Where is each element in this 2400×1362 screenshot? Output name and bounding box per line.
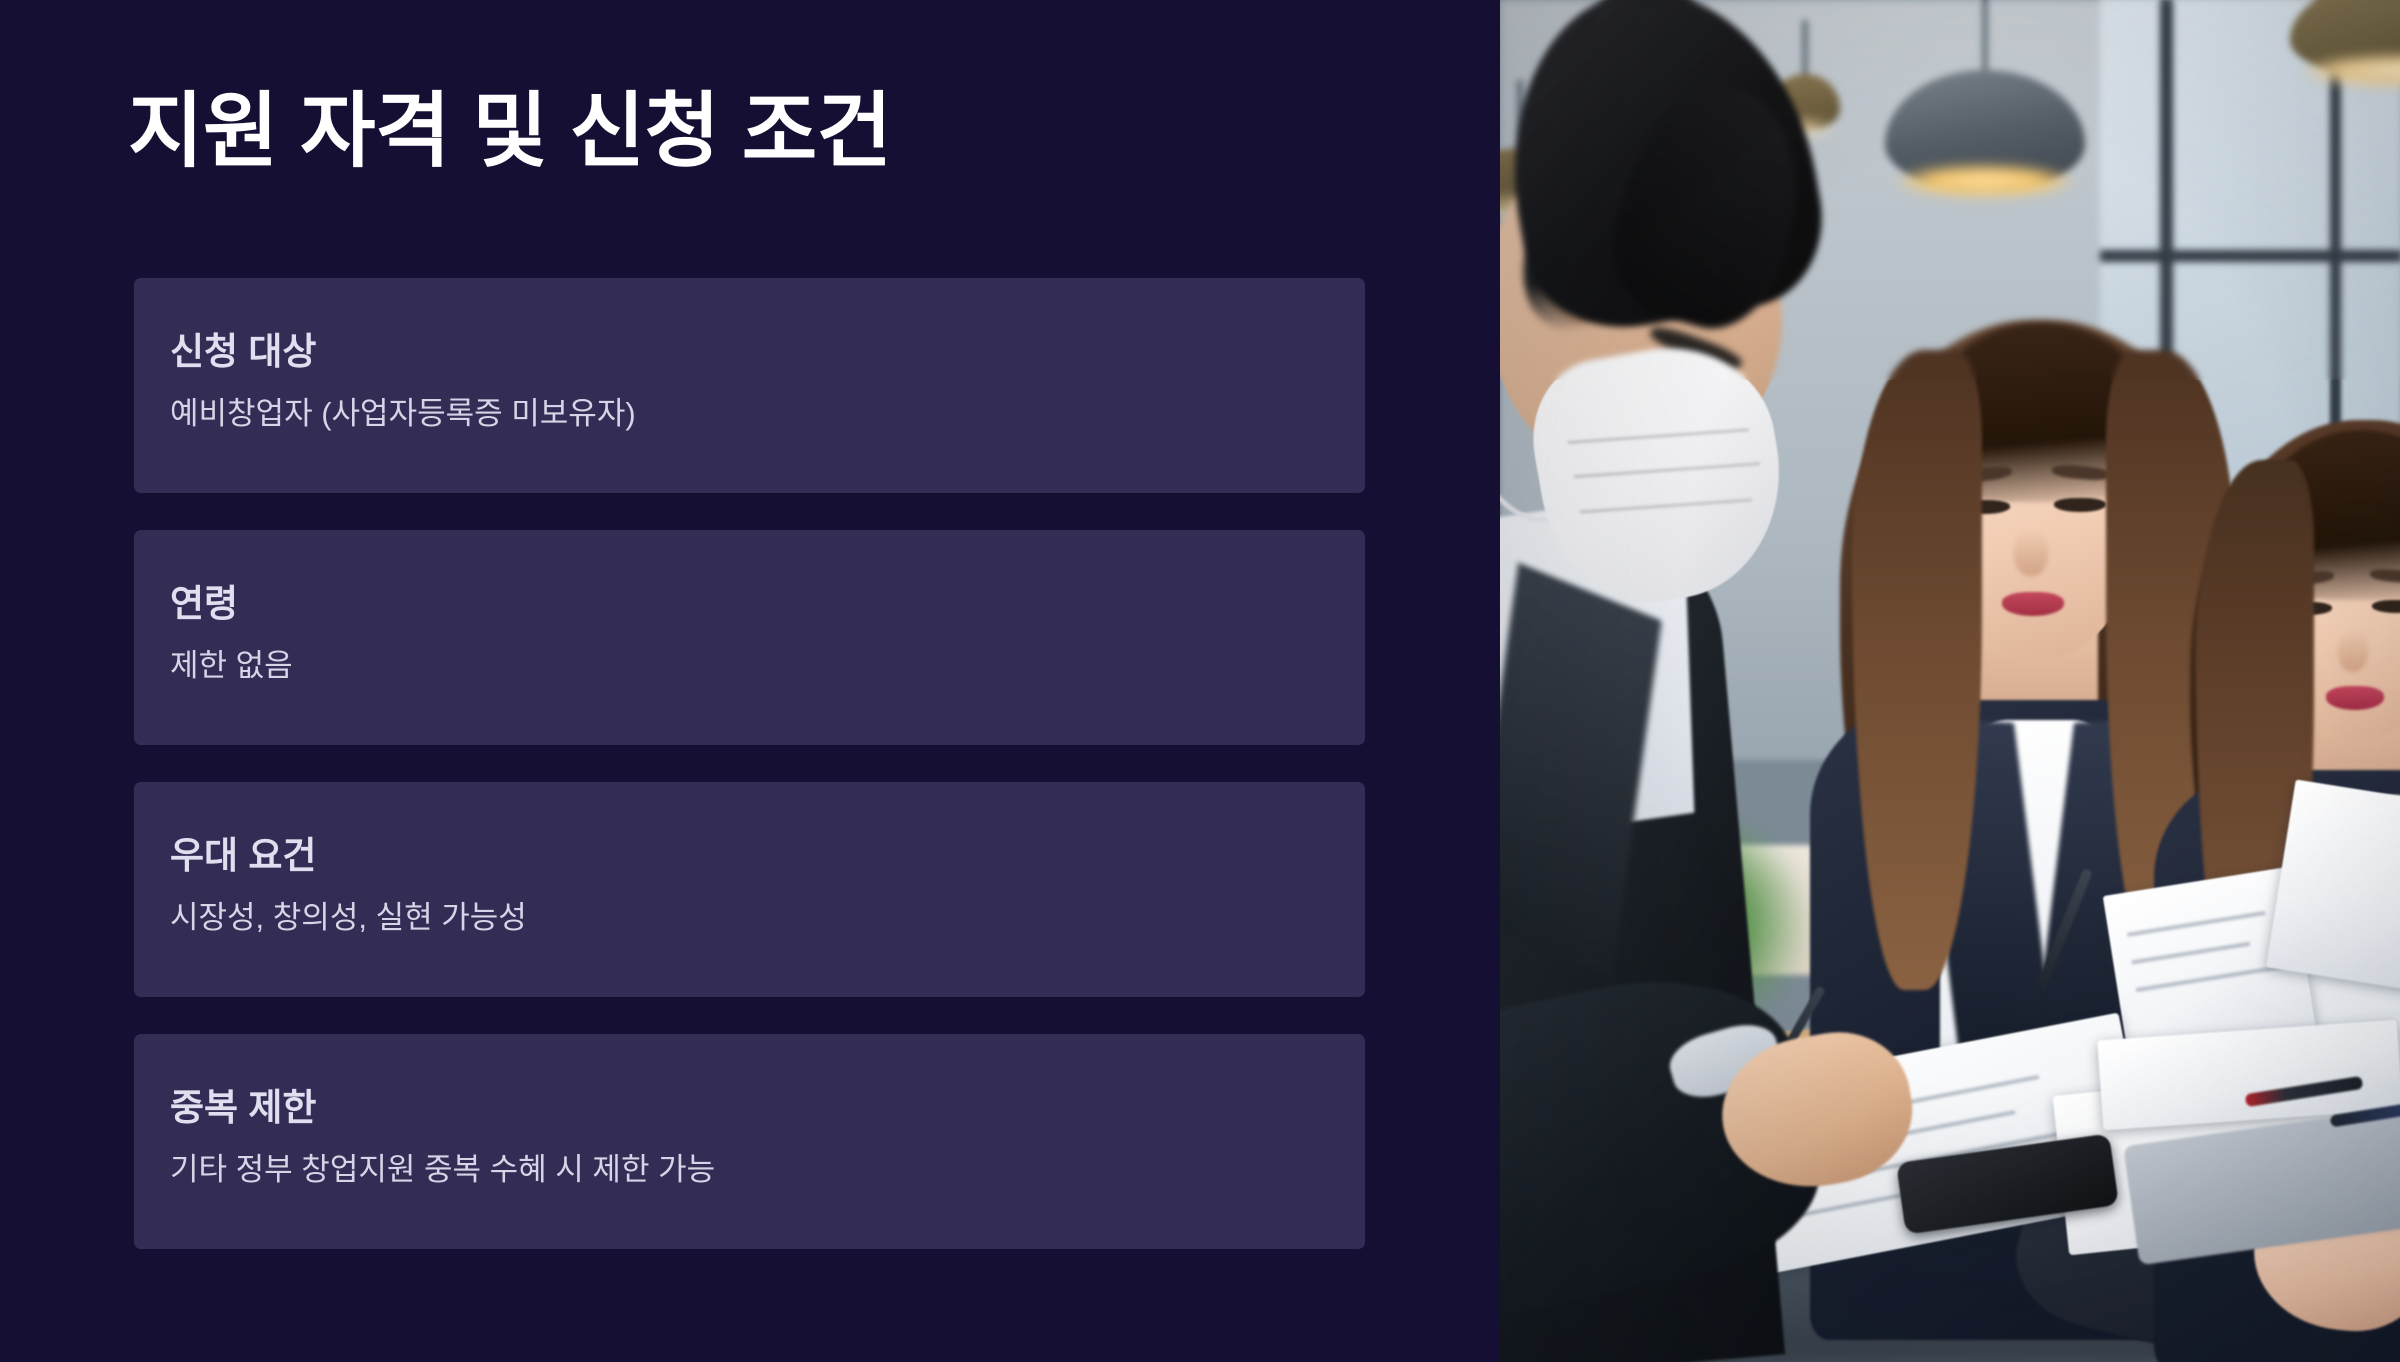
card-body: 기타 정부 창업지원 중복 수혜 시 제한 가능 [170,1151,1365,1190]
info-card-list: 신청 대상 예비창업자 (사업자등록증 미보유자) 연령 제한 없음 우대 요건… [134,278,1365,1249]
slide-root: 지원 자격 및 신청 조건 신청 대상 예비창업자 (사업자등록증 미보유자) … [0,0,2400,1362]
person-left-man [1500,0,1890,1362]
info-card-applicant: 신청 대상 예비창업자 (사업자등록증 미보유자) [134,278,1365,493]
info-card-duplication: 중복 제한 기타 정부 창업지원 중복 수혜 시 제한 가능 [134,1034,1365,1249]
card-heading: 중복 제한 [170,1086,1365,1130]
content-pane: 지원 자격 및 신청 조건 신청 대상 예비창업자 (사업자등록증 미보유자) … [0,0,1500,1362]
card-body: 예비창업자 (사업자등록증 미보유자) [170,395,1365,434]
page-title: 지원 자격 및 신청 조건 [128,88,892,177]
photo-scene [1500,0,2400,1362]
card-heading: 우대 요건 [170,834,1365,878]
card-body: 제한 없음 [170,647,1365,686]
card-heading: 신청 대상 [170,330,1365,374]
card-heading: 연령 [170,582,1365,626]
card-body: 시장성, 창의성, 실현 가능성 [170,899,1365,938]
hero-photo [1500,0,2400,1362]
info-card-age: 연령 제한 없음 [134,530,1365,745]
pendant-lamp-icon [1885,0,2085,190]
pendant-lamp-icon [2290,0,2400,80]
info-card-preference: 우대 요건 시장성, 창의성, 실현 가능성 [134,782,1365,997]
